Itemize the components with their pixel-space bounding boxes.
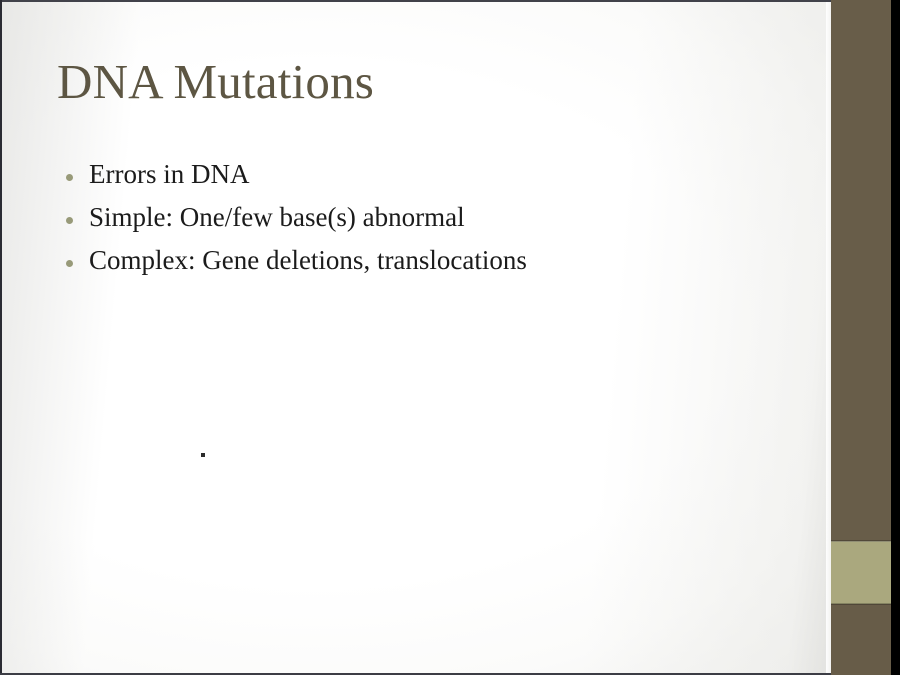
- slide-bullet-list: Errors in DNA Simple: One/few base(s) ab…: [60, 161, 800, 290]
- presentation-slide: DNA Mutations Errors in DNA Simple: One/…: [0, 0, 900, 675]
- decorative-band-brown-lower: [831, 604, 891, 675]
- list-item: Errors in DNA: [60, 161, 800, 204]
- bullet-text: Complex: Gene deletions, translocations: [89, 247, 800, 274]
- decorative-band-khaki: [831, 541, 891, 604]
- bullet-dot-icon: [66, 174, 73, 181]
- stray-period-mark: [201, 453, 205, 457]
- slide-edge-left: [0, 0, 2, 675]
- bullet-dot-icon: [66, 217, 73, 224]
- band-gutter: [826, 0, 831, 675]
- slide-title: DNA Mutations: [57, 57, 374, 108]
- slide-edge-right: [891, 0, 900, 675]
- bullet-dot-icon: [66, 260, 73, 267]
- band-divider-lower: [831, 603, 891, 605]
- list-item: Simple: One/few base(s) abnormal: [60, 204, 800, 247]
- bullet-text: Errors in DNA: [89, 161, 800, 188]
- band-divider-upper: [831, 540, 891, 542]
- bullet-text: Simple: One/few base(s) abnormal: [89, 204, 800, 231]
- slide-edge-top: [0, 0, 831, 2]
- decorative-band-brown-upper: [831, 0, 891, 541]
- list-item: Complex: Gene deletions, translocations: [60, 247, 800, 290]
